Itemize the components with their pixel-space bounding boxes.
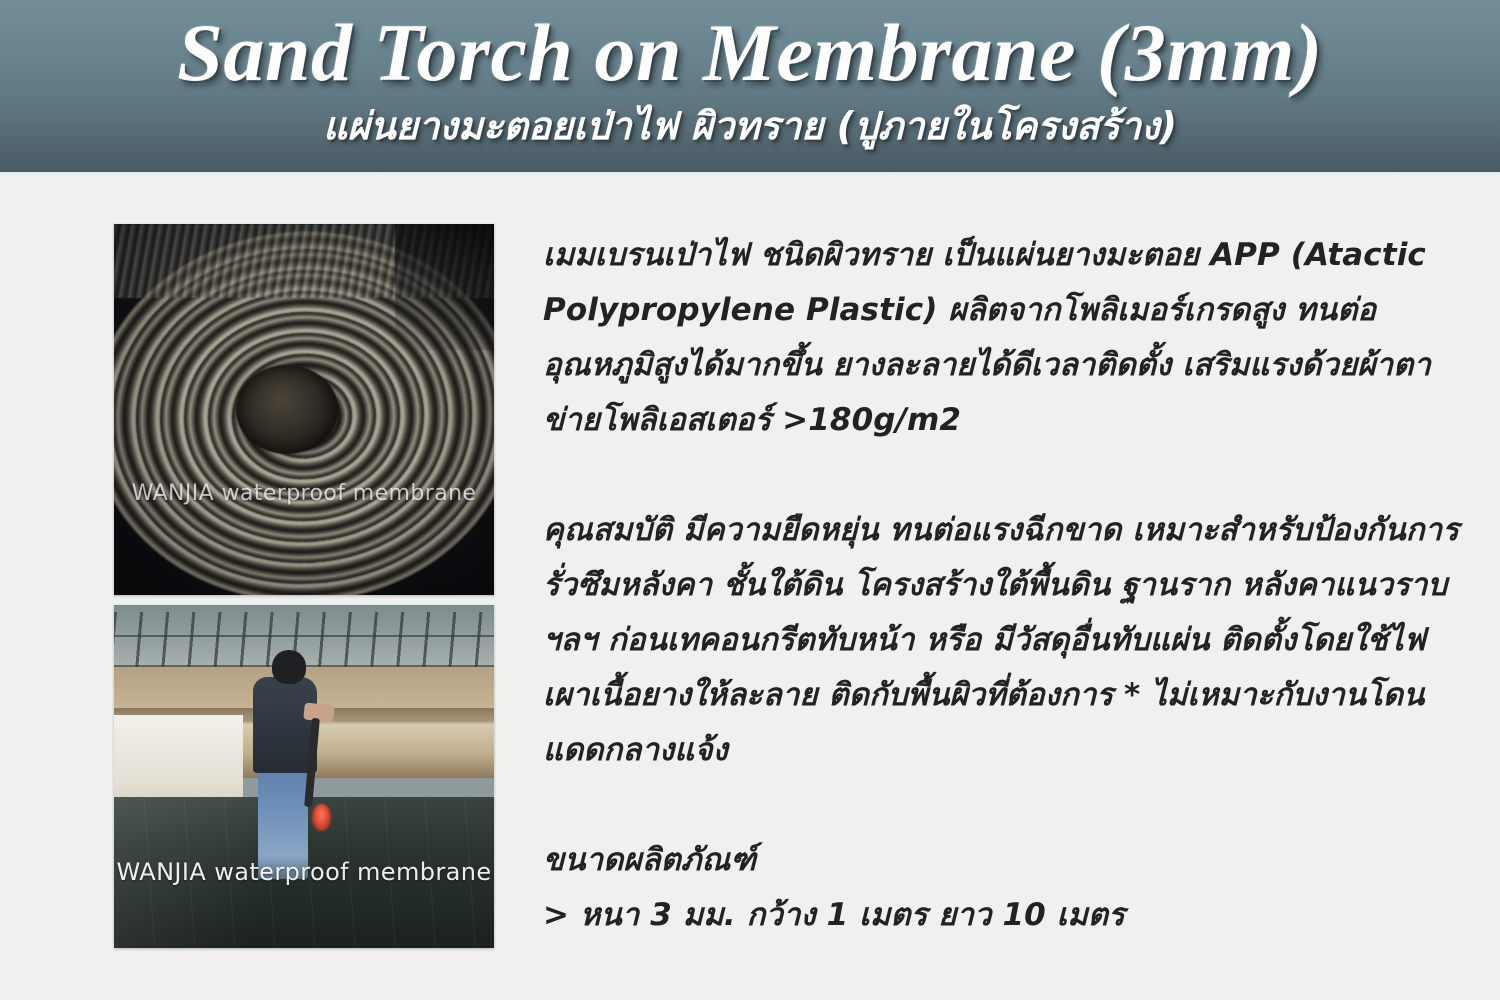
dimensions-line: > หนา 3 มม. กว้าง 1 เมตร ยาว 10 เมตร (543, 888, 1468, 943)
roll-vignette (114, 224, 494, 595)
product-description: เมมเบรนเป่าไฟ ชนิดผิวทราย เป็นแผ่นยางมะต… (543, 228, 1468, 943)
torch-flame (312, 804, 331, 831)
page-subtitle: แผ่นยางมะตอยเป่าไฟ ผิวทราย (ปูภายในโครงส… (0, 103, 1500, 151)
description-paragraph-2: คุณสมบัติ มีความยืดหยุ่น ทนต่อแรงฉีกขาด … (543, 503, 1468, 778)
roll-photo-artwork (114, 224, 494, 595)
product-info-page: Sand Torch on Membrane (3mm) แผ่นยางมะตอ… (0, 0, 1500, 1000)
page-title: Sand Torch on Membrane (3mm) (0, 9, 1500, 98)
header-divider (0, 172, 1500, 177)
worker-legs (258, 763, 307, 880)
torch-photo-artwork (114, 605, 494, 948)
dimensions-heading: ขนาดผลิตภัณฑ์ (543, 833, 1468, 888)
torch-application-photo: WANJIA waterproof membrane (114, 605, 494, 948)
description-paragraph-1: เมมเบรนเป่าไฟ ชนิดผิวทราย เป็นแผ่นยางมะต… (543, 228, 1468, 448)
membrane-roll-photo: WANJIA waterproof membrane (114, 224, 494, 595)
worker-head (272, 650, 306, 684)
header-banner: Sand Torch on Membrane (3mm) แผ่นยางมะตอ… (0, 0, 1500, 172)
